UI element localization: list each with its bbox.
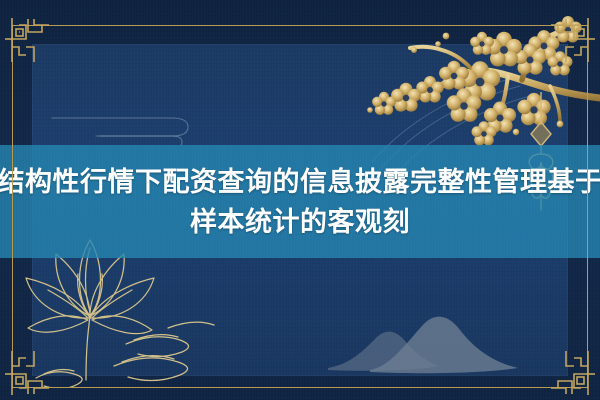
title-line-2: 样本统计的客观刻: [190, 202, 410, 242]
page-title: 结构性行情下配资查询的信息披露完整性管理基于 样本统计的客观刻: [0, 145, 600, 258]
title-line-1: 结构性行情下配资查询的信息披露完整性管理基于: [0, 162, 600, 202]
poster-canvas: 结构性行情下配资查询的信息披露完整性管理基于 样本统计的客观刻: [0, 0, 600, 400]
